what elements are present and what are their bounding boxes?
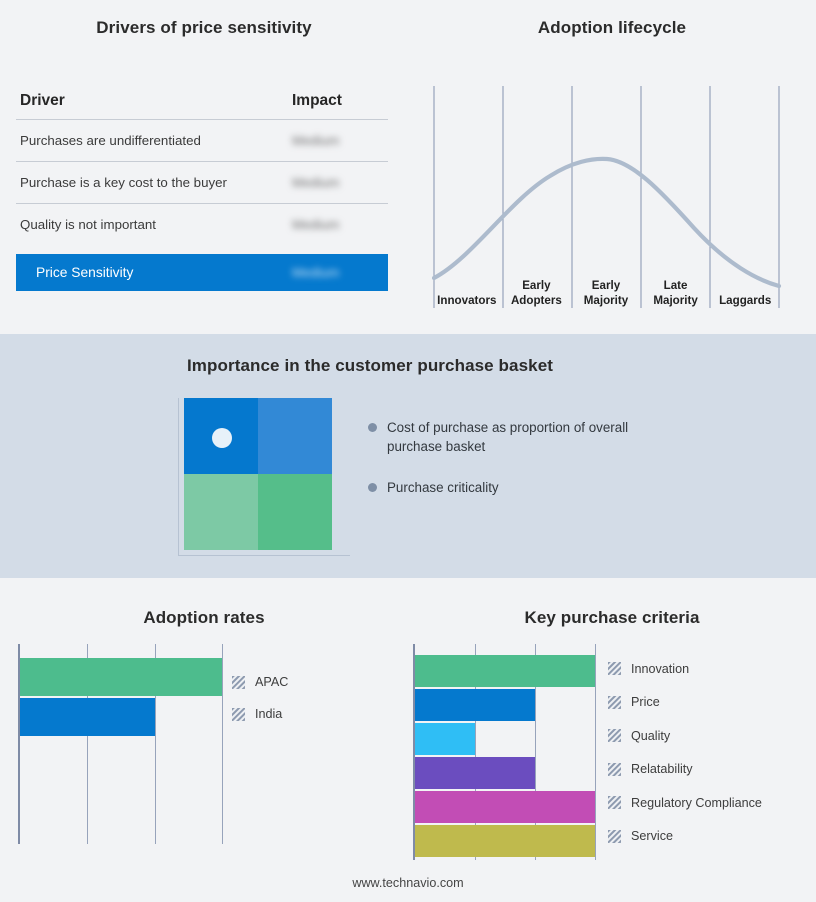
- chart-gridline: [222, 644, 223, 844]
- quadrant-top-right: [258, 398, 332, 474]
- lifecycle-stage-labels: Innovators Early Adopters Early Majority…: [432, 266, 780, 312]
- legend-item: Regulatory Compliance: [608, 786, 762, 820]
- panel-drivers-of-price-sensitivity: Drivers of price sensitivity Driver Impa…: [0, 0, 408, 334]
- drivers-table: Driver Impact Purchases are undifferenti…: [16, 92, 388, 291]
- key-purchase-criteria-plot: [413, 644, 595, 860]
- lifecycle-stage-early-adopters: Early Adopters: [502, 266, 572, 312]
- hatch-swatch-icon: [608, 729, 621, 742]
- panel-adoption-lifecycle: Adoption lifecycle Innovators: [408, 0, 816, 334]
- chart-bar: [415, 723, 475, 755]
- price-sensitivity-summary-row: Price Sensitivity Medium: [16, 254, 388, 291]
- key-purchase-criteria-chart: [413, 644, 595, 860]
- quadrant-top-left: [184, 398, 258, 474]
- key-purchase-criteria-legend: InnovationPriceQualityRelatabilityRegula…: [608, 652, 762, 853]
- table-row: Purchase is a key cost to the buyer Medi…: [16, 162, 388, 203]
- drivers-panel-title: Drivers of price sensitivity: [0, 18, 408, 38]
- legend-label: Quality: [631, 729, 670, 743]
- quadrant-cells: [184, 398, 332, 550]
- lifecycle-stage-laggards: Laggards: [710, 266, 780, 312]
- legend-label: India: [255, 707, 282, 721]
- basket-legend-label: Purchase criticality: [387, 478, 499, 497]
- quadrant-matrix: [178, 398, 354, 562]
- lifecycle-panel-title: Adoption lifecycle: [408, 18, 816, 38]
- stage-line2: Innovators: [437, 293, 496, 308]
- stage-line2: Majority: [584, 293, 628, 308]
- bullet-dot-icon: [368, 423, 377, 432]
- hatch-swatch-icon: [608, 763, 621, 776]
- legend-item: India: [232, 698, 288, 730]
- legend-item: Price: [608, 686, 762, 720]
- table-row: Purchases are undifferentiated Medium: [16, 120, 388, 161]
- lifecycle-stage-early-majority: Early Majority: [571, 266, 641, 312]
- legend-item: Innovation: [608, 652, 762, 686]
- adoption-rates-legend: APACIndia: [232, 666, 288, 730]
- chart-bar: [415, 825, 595, 857]
- criteria-panel-title: Key purchase criteria: [408, 608, 816, 628]
- hatch-swatch-icon: [232, 708, 245, 721]
- stage-line1: Early: [522, 278, 550, 293]
- adoption-rates-chart: [18, 644, 222, 844]
- quadrant-x-axis: [178, 555, 350, 556]
- stage-line2: Adopters: [511, 293, 562, 308]
- rates-panel-title: Adoption rates: [0, 608, 408, 628]
- footer-url: www.technavio.com: [0, 876, 816, 890]
- chart-bar: [415, 757, 535, 789]
- legend-item: Relatability: [608, 753, 762, 787]
- column-header-impact: Impact: [292, 92, 384, 110]
- column-header-driver: Driver: [20, 92, 292, 110]
- summary-label: Price Sensitivity: [36, 265, 292, 280]
- adoption-rates-plot: [18, 644, 222, 844]
- legend-label: Regulatory Compliance: [631, 796, 762, 810]
- table-header-row: Driver Impact: [16, 92, 388, 119]
- lifecycle-stage-late-majority: Late Majority: [641, 266, 711, 312]
- legend-item: Quality: [608, 719, 762, 753]
- legend-item: APAC: [232, 666, 288, 698]
- legend-label: APAC: [255, 675, 288, 689]
- legend-item: Service: [608, 820, 762, 854]
- chart-bar: [415, 689, 535, 721]
- legend-label: Service: [631, 829, 673, 843]
- impact-cell: Medium: [292, 217, 384, 232]
- stage-line1: Late: [664, 278, 688, 293]
- hatch-swatch-icon: [608, 696, 621, 709]
- hatch-swatch-icon: [608, 662, 621, 675]
- legend-label: Innovation: [631, 662, 689, 676]
- basket-panel-title: Importance in the customer purchase bask…: [0, 356, 740, 376]
- legend-label: Relatability: [631, 762, 693, 776]
- stage-line2: Laggards: [719, 293, 771, 308]
- driver-cell: Purchases are undifferentiated: [20, 133, 292, 148]
- chart-gridline: [595, 644, 596, 860]
- driver-cell: Purchase is a key cost to the buyer: [20, 175, 292, 190]
- quadrant-bottom-right: [258, 474, 332, 550]
- basket-legend-item: Cost of purchase as proportion of overal…: [368, 418, 668, 456]
- table-row: Quality is not important Medium: [16, 204, 388, 245]
- lifecycle-chart: Innovators Early Adopters Early Majority…: [432, 80, 792, 312]
- panel-key-purchase-criteria: Key purchase criteria InnovationPriceQua…: [408, 578, 816, 902]
- position-dot-icon: [212, 428, 232, 448]
- infographic-page: Drivers of price sensitivity Driver Impa…: [0, 0, 816, 902]
- hatch-swatch-icon: [608, 796, 621, 809]
- panel-adoption-rates: Adoption rates APACIndia: [0, 578, 408, 902]
- panel-importance-purchase-basket: Importance in the customer purchase bask…: [0, 334, 816, 578]
- impact-cell: Medium: [292, 133, 384, 148]
- bullet-dot-icon: [368, 483, 377, 492]
- chart-bar: [415, 655, 595, 687]
- basket-legend: Cost of purchase as proportion of overal…: [368, 418, 668, 519]
- lifecycle-stage-innovators: Innovators: [432, 266, 502, 312]
- driver-cell: Quality is not important: [20, 217, 292, 232]
- summary-impact: Medium: [292, 265, 384, 280]
- chart-bar: [415, 791, 595, 823]
- legend-label: Price: [631, 695, 660, 709]
- chart-bar: [20, 698, 155, 736]
- stage-line2: Majority: [653, 293, 697, 308]
- basket-legend-item: Purchase criticality: [368, 478, 668, 497]
- quadrant-y-axis: [178, 398, 179, 556]
- impact-cell: Medium: [292, 175, 384, 190]
- hatch-swatch-icon: [232, 676, 245, 689]
- basket-legend-label: Cost of purchase as proportion of overal…: [387, 418, 668, 456]
- chart-bar: [20, 658, 222, 696]
- stage-line1: Early: [592, 278, 620, 293]
- quadrant-bottom-left: [184, 474, 258, 550]
- hatch-swatch-icon: [608, 830, 621, 843]
